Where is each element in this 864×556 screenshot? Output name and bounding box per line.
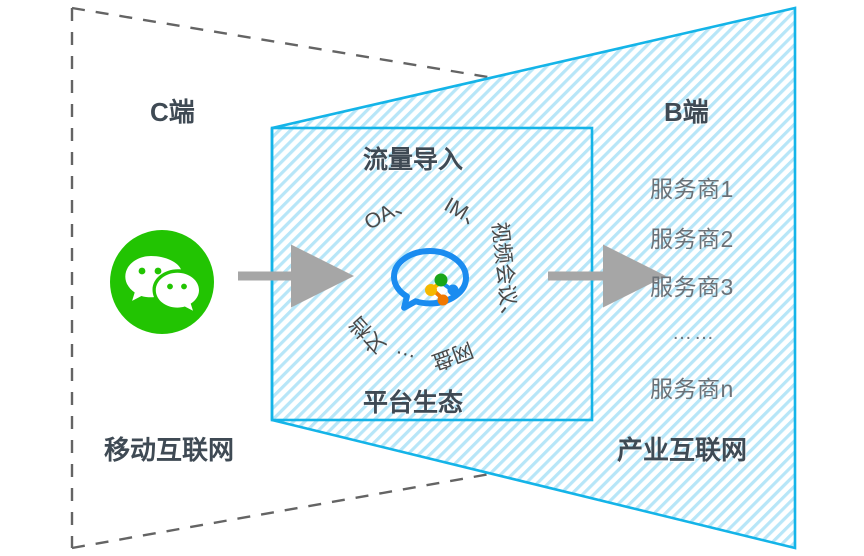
ecosystem-ring: OA、IM、视频会议、网盘…文档 bbox=[318, 182, 534, 382]
ring-word: OA、 bbox=[359, 186, 418, 237]
wechat-logo-icon bbox=[110, 230, 214, 334]
service-provider-item: 服务商3 bbox=[650, 268, 734, 302]
ring-word: 网盘 bbox=[428, 336, 478, 379]
platform-ecosystem-label: 平台生态 bbox=[363, 383, 463, 419]
ring-word: 文档 bbox=[341, 310, 391, 361]
c-side-heading: C端 bbox=[150, 92, 195, 129]
diagram-canvas: OA、IM、视频会议、网盘…文档 C端 B端 流量导入 平台生态 移动互联网 产… bbox=[0, 0, 864, 556]
traffic-import-label: 流量导入 bbox=[363, 140, 463, 176]
industrial-internet-footer: 产业互联网 bbox=[617, 430, 747, 467]
ring-word: … bbox=[391, 344, 418, 373]
service-provider-item: 服务商2 bbox=[650, 220, 734, 254]
service-provider-item: 服务商n bbox=[650, 370, 734, 404]
service-provider-ellipsis: …… bbox=[672, 322, 716, 345]
service-provider-item: 服务商1 bbox=[650, 170, 734, 204]
ring-word: IM、 bbox=[439, 189, 492, 237]
b-side-heading: B端 bbox=[664, 92, 709, 129]
ring-word: 视频会议、 bbox=[485, 220, 526, 328]
mobile-internet-footer: 移动互联网 bbox=[104, 430, 234, 467]
wechat-bubbles-glyph bbox=[110, 230, 214, 334]
